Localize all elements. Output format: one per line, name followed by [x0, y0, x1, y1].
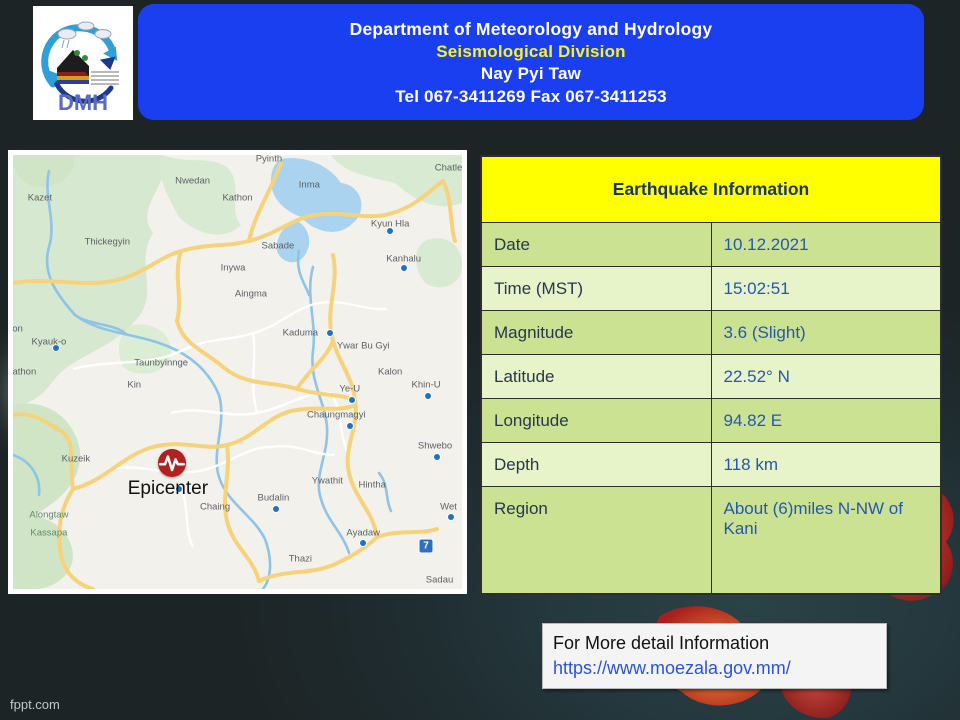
svg-text:DMH: DMH [58, 90, 108, 115]
table-row: Latitude 22.52° N [482, 355, 941, 399]
row-value-longitude: 94.82 E [711, 399, 941, 443]
dmh-logo: DMH [33, 6, 133, 120]
table-row: Time (MST) 15:02:51 [482, 267, 941, 311]
row-label-date: Date [482, 223, 712, 267]
table-row: Depth 118 km [482, 443, 941, 487]
header-contact: Tel 067-3411269 Fax 067-3411253 [395, 88, 667, 106]
map-dot [387, 228, 393, 234]
map-base-layer [13, 155, 462, 589]
dmh-logo-icon: DMH [33, 6, 133, 120]
earthquake-information-table: Earthquake Information Date 10.12.2021 T… [480, 155, 942, 595]
row-label-latitude: Latitude [482, 355, 712, 399]
map-dot [349, 397, 355, 403]
row-value-depth: 118 km [711, 443, 941, 487]
row-label-time: Time (MST) [482, 267, 712, 311]
map-dot [327, 330, 333, 336]
row-label-magnitude: Magnitude [482, 311, 712, 355]
road-shield-icon: 7 [419, 538, 434, 553]
map-dot [425, 393, 431, 399]
map-dot [273, 506, 279, 512]
map-dot [53, 345, 59, 351]
row-value-region: About (6)miles N-NW of Kani [711, 487, 941, 594]
map-dot [347, 423, 353, 429]
map-viewport[interactable]: 7 Epicenter KazetNwedanKathonPyinthInmaC… [13, 155, 462, 589]
row-value-latitude: 22.52° N [711, 355, 941, 399]
table-header-row: Earthquake Information [482, 157, 941, 223]
more-information-box: For More detail Information https://www.… [542, 623, 887, 689]
map-dot [434, 454, 440, 460]
row-value-magnitude: 3.6 (Slight) [711, 311, 941, 355]
table-row: Longitude 94.82 E [482, 399, 941, 443]
table-row: Date 10.12.2021 [482, 223, 941, 267]
more-info-link[interactable]: https://www.moezala.gov.mm/ [553, 656, 876, 680]
table-title: Earthquake Information [482, 157, 941, 223]
map-dot [360, 540, 366, 546]
map-panel[interactable]: 7 Epicenter KazetNwedanKathonPyinthInmaC… [8, 150, 467, 594]
row-label-depth: Depth [482, 443, 712, 487]
seismograph-icon [158, 449, 186, 477]
epicenter-label: Epicenter [128, 478, 208, 500]
watermark: fppt.com [10, 697, 60, 712]
map-dot [401, 265, 407, 271]
row-value-date: 10.12.2021 [711, 223, 941, 267]
map-dot [448, 514, 454, 520]
header-city: Nay Pyi Taw [481, 65, 581, 83]
slide-canvas: DMH Department of Meteorology and Hydrol… [0, 0, 960, 720]
epicenter-marker-icon[interactable] [158, 449, 186, 477]
header-banner: Department of Meteorology and Hydrology … [138, 4, 924, 120]
row-label-region: Region [482, 487, 712, 594]
row-value-time: 15:02:51 [711, 267, 941, 311]
header-division-title: Seismological Division [436, 43, 626, 61]
row-label-longitude: Longitude [482, 399, 712, 443]
header-department-title: Department of Meteorology and Hydrology [350, 20, 713, 39]
more-info-label: For More detail Information [553, 630, 876, 656]
table-row: Magnitude 3.6 (Slight) [482, 311, 941, 355]
table-row: Region About (6)miles N-NW of Kani [482, 487, 941, 594]
